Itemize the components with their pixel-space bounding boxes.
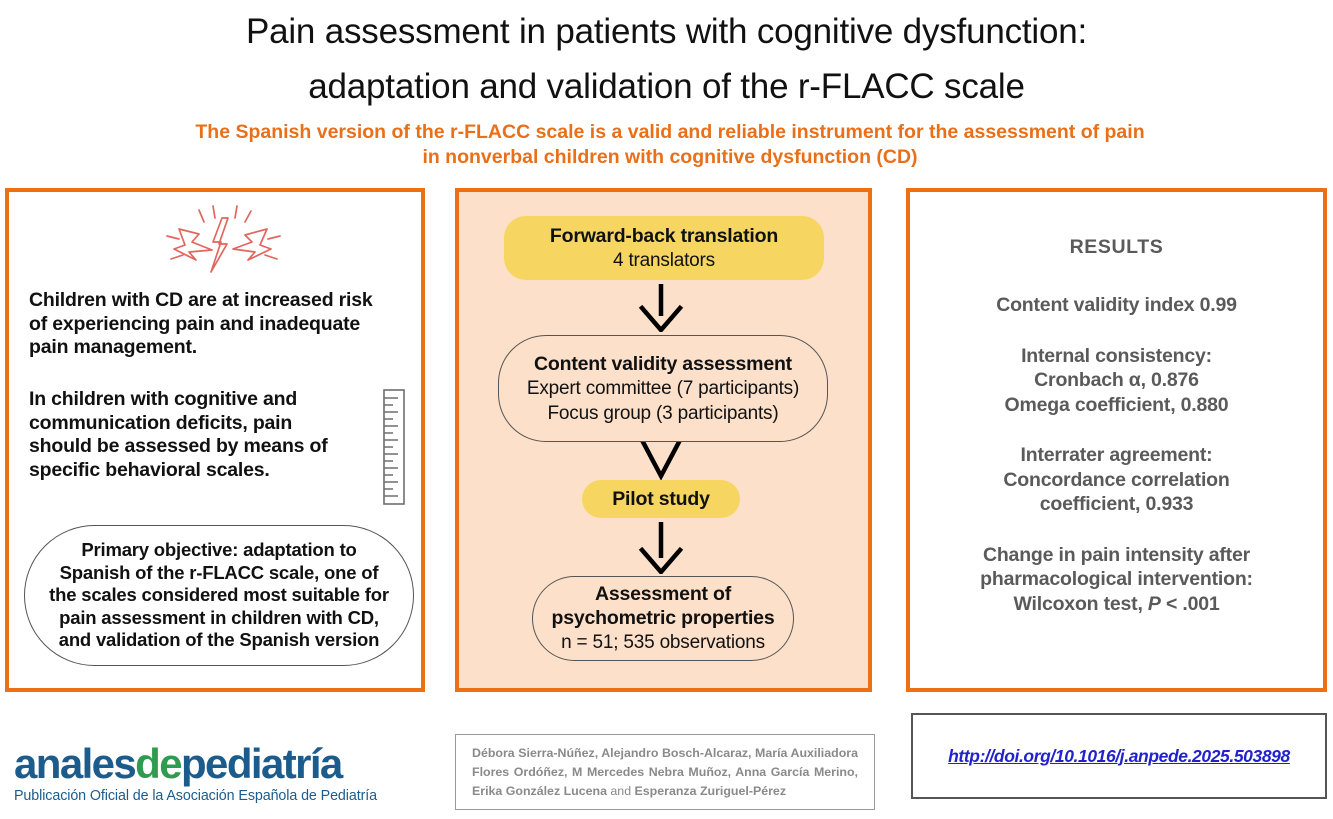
logo-part-de: de: [135, 740, 181, 787]
authors-conjunction: and: [607, 784, 635, 798]
logo-tagline: Publicación Oficial de la Asociación Esp…: [14, 788, 434, 804]
flow-node-title: Content validity assessment: [534, 352, 792, 376]
results-heading: RESULTS: [910, 236, 1323, 259]
result-line-pre: Wilcoxon test,: [1013, 593, 1147, 615]
pain-lightning-icon: [159, 202, 289, 282]
result-p-symbol: P: [1148, 593, 1161, 615]
flow-node-pilot-study: Pilot study: [582, 480, 740, 518]
primary-objective-callout: Primary objective: adaptation to Spanish…: [24, 525, 414, 666]
subtitle-line-1: The Spanish version of the r-FLACC scale…: [80, 120, 1260, 145]
results-panel: RESULTS Content validity index 0.99 Inte…: [906, 188, 1327, 692]
result-line: Change in pain intensity after: [924, 543, 1309, 568]
doi-link[interactable]: http://doi.org/10.1016/j.anpede.2025.503…: [948, 746, 1290, 767]
flow-node-title: Forward-back translation: [550, 224, 778, 248]
primary-objective-text: Primary objective: adaptation to Spanish…: [25, 539, 413, 652]
flow-node-title-2: psychometric properties: [552, 606, 775, 630]
flow-node-subtitle-2: Focus group (3 participants): [548, 401, 779, 426]
page-title: Pain assessment in patients with cogniti…: [0, 4, 1333, 114]
logo-part-pediatria: pediatría: [181, 740, 342, 787]
authors-list: Débora Sierra-Núñez, Alejandro Bosch-Alc…: [456, 744, 874, 801]
left-paragraph-2: In children with cognitive and communica…: [29, 388, 359, 482]
flow-node-subtitle: n = 51; 535 observations: [561, 630, 765, 655]
result-block-content-validity: Content validity index 0.99: [910, 293, 1323, 318]
flow-node-subtitle: 4 translators: [613, 248, 715, 273]
result-line: coefficient, 0.933: [924, 492, 1309, 517]
result-line: Interrater agreement:: [924, 443, 1309, 468]
background-panel: Children with CD are at increased risk o…: [5, 188, 425, 692]
down-arrow-icon: [636, 522, 686, 574]
down-arrow-icon: [636, 442, 686, 484]
flow-node-content-validity: Content validity assessment Expert commi…: [498, 335, 828, 442]
result-line: Cronbach α, 0.876: [924, 368, 1309, 393]
result-line: Content validity index 0.99: [924, 293, 1309, 318]
journal-logo: analesdepediatría Publicación Oficial de…: [14, 742, 434, 804]
flow-node-forward-back-translation: Forward-back translation 4 translators: [504, 216, 824, 280]
subtitle-line-2: in nonverbal children with cognitive dys…: [80, 145, 1260, 170]
result-line: pharmacological intervention:: [924, 567, 1309, 592]
result-line: Internal consistency:: [924, 344, 1309, 369]
title-line-2: adaptation and validation of the r-FLACC…: [0, 59, 1333, 114]
left-paragraph-1: Children with CD are at increased risk o…: [29, 289, 389, 360]
authors-post: Esperanza Zuriguel-Pérez: [635, 784, 787, 798]
result-line-post: < .001: [1161, 593, 1220, 615]
result-line: Concordance correlation: [924, 468, 1309, 493]
flow-node-psychometric-assessment: Assessment of psychometric properties n …: [532, 576, 794, 661]
result-block-internal-consistency: Internal consistency: Cronbach α, 0.876 …: [910, 344, 1323, 418]
result-block-pain-intensity-change: Change in pain intensity after pharmacol…: [910, 543, 1323, 617]
flow-node-subtitle: Expert committee (7 participants): [527, 376, 799, 401]
result-line: Omega coefficient, 0.880: [924, 393, 1309, 418]
methods-flowchart-panel: Forward-back translation 4 translators C…: [455, 188, 872, 692]
subtitle: The Spanish version of the r-FLACC scale…: [80, 120, 1260, 170]
doi-box: http://doi.org/10.1016/j.anpede.2025.503…: [911, 713, 1327, 799]
authors-box: Débora Sierra-Núñez, Alejandro Bosch-Alc…: [455, 734, 875, 810]
ruler-icon: [381, 388, 407, 506]
logo-wordmark: analesdepediatría: [14, 742, 434, 786]
logo-part-anales: anales: [14, 740, 135, 787]
result-line-pvalue: Wilcoxon test, P < .001: [924, 592, 1309, 617]
flow-node-title: Assessment of: [595, 582, 731, 606]
result-block-interrater-agreement: Interrater agreement: Concordance correl…: [910, 443, 1323, 517]
title-line-1: Pain assessment in patients with cogniti…: [0, 4, 1333, 59]
flow-node-title: Pilot study: [612, 487, 709, 511]
down-arrow-icon: [636, 284, 686, 332]
